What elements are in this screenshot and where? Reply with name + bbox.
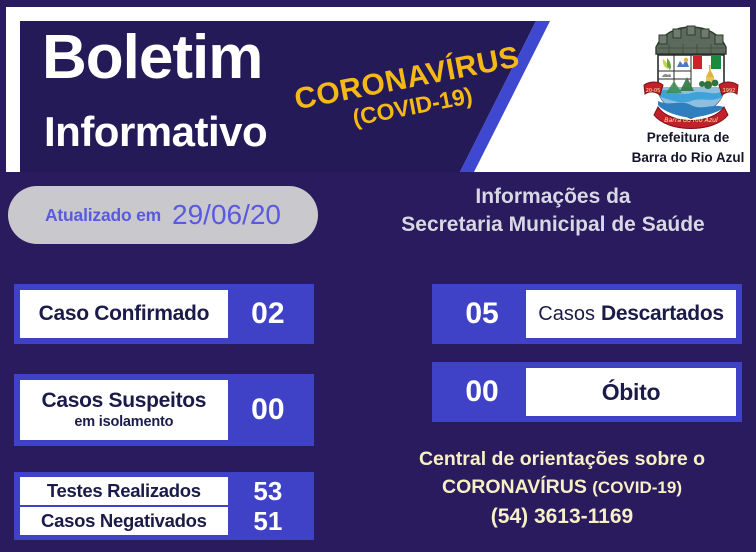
tests-done-value: 53 (228, 477, 308, 505)
tests-done-label: Testes Realizados (47, 480, 201, 502)
negatives-label: Casos Negativados (41, 510, 207, 532)
contact-block: Central de orientações sobre o CORONAVÍR… (372, 446, 752, 533)
deaths-label-box: Óbito (526, 368, 736, 416)
contact-line1: Central de orientações sobre o (372, 446, 752, 474)
deaths-value: 00 (438, 368, 526, 416)
contact-line2: CORONAVÍRUS (COVID-19) (372, 474, 752, 502)
crest-caption: Prefeitura de Barra do Rio Azul (618, 128, 756, 167)
negatives-label-box: Casos Negativados (20, 507, 228, 535)
confirmed-label-box: Caso Confirmado (20, 290, 228, 338)
crest-caption-line2: Barra do Rio Azul (618, 148, 756, 168)
stat-card-confirmed-cases: Caso Confirmado 02 (14, 284, 314, 344)
confirmed-value: 02 (228, 290, 308, 338)
deaths-label: Óbito (602, 379, 661, 406)
header-band: Boletim Informativo CORONAVÍRUS (COVID-1… (6, 7, 750, 172)
contact-disease-name: CORONAVÍRUS (442, 476, 587, 498)
tests-done-label-box: Testes Realizados (20, 477, 228, 505)
discarded-label-prefix: Casos (538, 303, 595, 326)
table-row: Casos Negativados 51 (20, 507, 308, 535)
crest-caption-line1: Prefeitura de (618, 128, 756, 148)
contact-phone: (54) 3613-1169 (372, 501, 752, 533)
suspect-label-box: Casos Suspeitos em isolamento (20, 380, 228, 440)
last-updated-badge: Atualizado em 29/06/20 (8, 186, 318, 244)
page-title: Boletim (42, 27, 262, 89)
last-updated-label: Atualizado em (45, 205, 161, 226)
discarded-label: Descartados (601, 302, 724, 326)
suspect-value: 00 (228, 380, 308, 440)
source-info-line2: Secretaria Municipal de Saúde (360, 211, 746, 239)
table-row: Testes Realizados 53 (20, 477, 308, 505)
confirmed-label: Caso Confirmado (39, 302, 210, 326)
source-info-line1: Informações da (360, 183, 746, 211)
discarded-value: 05 (438, 290, 526, 338)
suspect-label: Casos Suspeitos (41, 389, 206, 413)
stat-card-tests-and-negatives: Testes Realizados 53 Casos Negativados 5… (14, 472, 314, 540)
svg-text:1992: 1992 (723, 88, 736, 94)
stat-card-discarded-cases: 05 Casos Descartados (432, 284, 742, 344)
stat-card-suspect-cases: Casos Suspeitos em isolamento 00 (14, 374, 314, 446)
svg-text:Barra do Rio Azul: Barra do Rio Azul (664, 117, 718, 124)
stat-card-deaths: 00 Óbito (432, 362, 742, 422)
page-subtitle: Informativo (44, 111, 267, 153)
source-info: Informações da Secretaria Municipal de S… (360, 183, 746, 240)
negatives-value: 51 (228, 507, 308, 535)
last-updated-date: 29/06/20 (172, 199, 281, 231)
discarded-label-box: Casos Descartados (526, 290, 736, 338)
suspect-sublabel: em isolamento (74, 414, 173, 431)
svg-text:20-05: 20-05 (646, 88, 661, 94)
bulletin-poster: Boletim Informativo CORONAVÍRUS (COVID-1… (0, 0, 756, 552)
municipal-coat-of-arms-icon: 20-05 1992 Barra do Rio Azul (636, 21, 746, 131)
contact-disease-code: (COVID-19) (592, 478, 682, 497)
